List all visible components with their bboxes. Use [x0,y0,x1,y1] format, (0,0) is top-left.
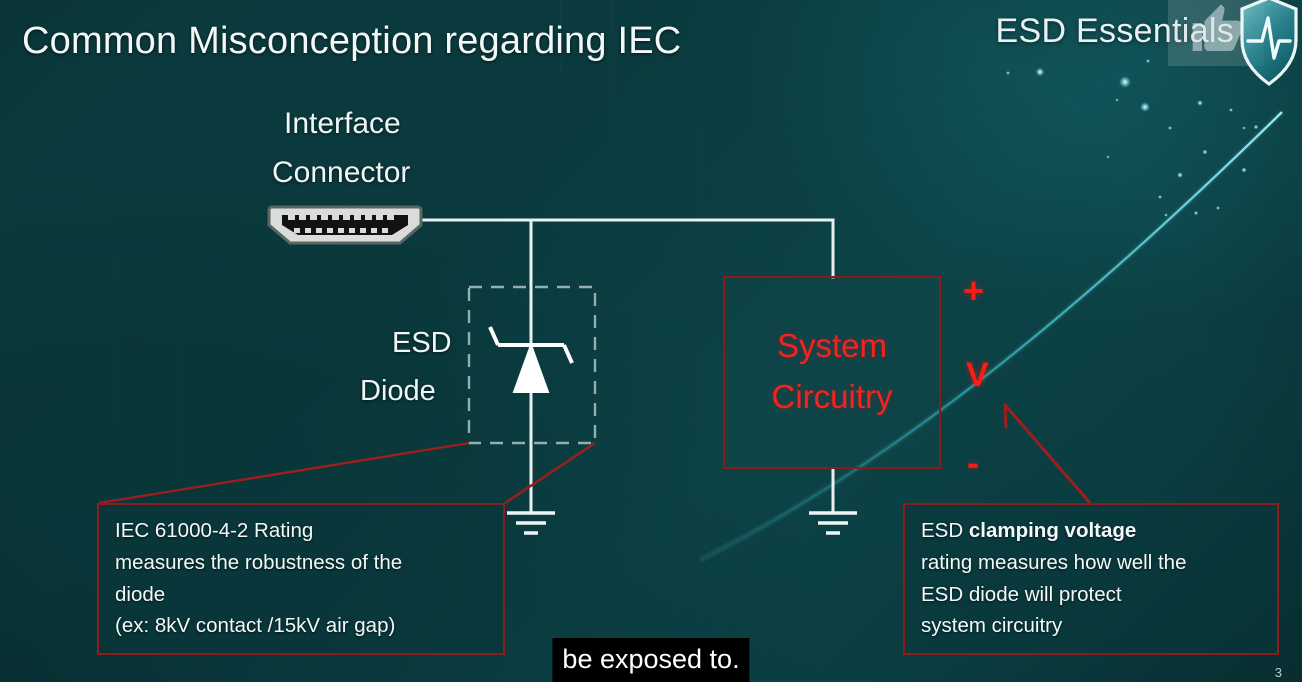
esd-diode-dashed-box [469,287,595,443]
callout-right-prefix: ESD [921,519,969,542]
polarity-minus-marker: - [967,442,979,484]
interface-connector-label-line1: Interface [284,107,401,141]
shield-pulse-icon [1238,0,1300,88]
polarity-plus-marker: + [963,270,984,312]
callout-right-line4: system circuitry [921,610,1263,642]
esd-diode-label-line1: ESD [392,327,452,360]
callout-left-line2: measures the robustness of the [115,547,489,579]
slide-root: Common Misconception regarding IEC ESD E… [0,0,1302,682]
page-number: 3 [1275,665,1282,680]
callout-left-line3: diode [115,579,489,611]
leader-line-left [99,443,595,503]
bg-streak [700,120,702,290]
interface-connector-label-line2: Connector [272,156,410,190]
particle-field [1006,59,1258,217]
system-circuitry-line1: System [723,320,941,371]
callout-left-line4: (ex: 8kV contact /15kV air gap) [115,610,489,642]
system-circuitry-line2: Circuitry [723,371,941,422]
callout-right-line2: rating measures how well the [921,547,1263,579]
polarity-voltage-marker: V [966,356,989,395]
earth-ground-icon [809,513,857,533]
leader-arrow-right [1005,405,1090,503]
callout-iec-rating: IEC 61000-4-2 Rating measures the robust… [97,503,505,655]
callout-right-line1: ESD clamping voltage [921,515,1263,547]
earth-ground-icon [507,513,555,533]
system-circuitry-label: System Circuitry [723,320,941,422]
video-caption: be exposed to. [552,638,749,682]
callout-clamping-voltage: ESD clamping voltage rating measures how… [903,503,1279,655]
callout-right-line3: ESD diode will protect [921,579,1263,611]
bg-streak [118,260,120,460]
tvs-zener-diode-icon [490,327,572,392]
callout-right-bold: clamping voltage [969,519,1136,542]
thumbs-up-glyph [1188,2,1244,58]
page-title: Common Misconception regarding IEC [22,20,681,63]
hdmi-connector-icon [266,203,424,247]
callout-left-line1: IEC 61000-4-2 Rating [115,515,489,547]
esd-diode-label-line2: Diode [360,375,436,408]
